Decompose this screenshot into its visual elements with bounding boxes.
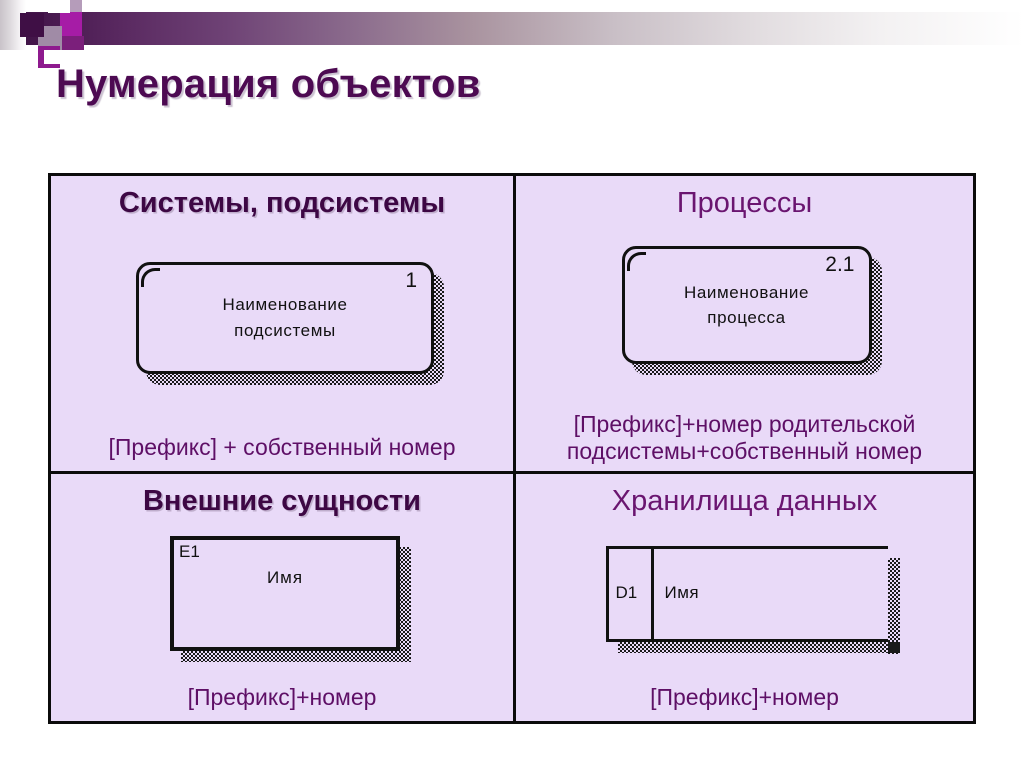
subsystem-shape: 1 Наименование подсистемы bbox=[136, 262, 434, 374]
data-store-name: Имя bbox=[665, 583, 700, 603]
deco-notch-white bbox=[48, 0, 70, 13]
data-store-divider bbox=[651, 549, 654, 639]
cell-external-entities-caption: [Префикс]+номер bbox=[51, 684, 513, 721]
cell-processes-caption-line1: [Префикс]+номер родительской bbox=[516, 411, 973, 438]
cell-data-stores-shape-area: D1 Имя bbox=[516, 518, 973, 684]
cell-data-stores-title: Хранилища данных bbox=[612, 486, 877, 518]
deco-mask-left bbox=[0, 50, 38, 64]
subsystem-box: 1 Наименование подсистемы bbox=[136, 262, 434, 374]
external-entity-id: E1 bbox=[179, 542, 200, 562]
data-store-shape: D1 Имя bbox=[606, 546, 888, 642]
external-entity-shape: E1 Имя bbox=[170, 536, 400, 651]
deco-square-dark bbox=[20, 13, 44, 37]
cell-systems: Системы, подсистемы 1 Наименование подси… bbox=[51, 176, 516, 474]
data-store-id: D1 bbox=[616, 583, 638, 603]
subsystem-name-line1: Наименование bbox=[222, 292, 347, 318]
cell-external-entities-shape-area: E1 Имя bbox=[51, 518, 513, 684]
cell-processes-shape-area: 2.1 Наименование процесса bbox=[516, 220, 973, 411]
deco-square-magenta-top bbox=[60, 12, 82, 36]
deco-square-violet-mid bbox=[60, 36, 84, 50]
header-decoration bbox=[0, 0, 1024, 62]
cell-processes-caption: [Префикс]+номер родительской подсистемы+… bbox=[516, 411, 973, 471]
cell-processes-title: Процессы bbox=[677, 188, 812, 220]
process-name-line1: Наименование bbox=[684, 280, 809, 306]
cell-data-stores-caption: [Префикс]+номер bbox=[516, 684, 973, 721]
notation-matrix: Системы, подсистемы 1 Наименование подси… bbox=[48, 173, 976, 724]
subsystem-name-line2: подсистемы bbox=[222, 318, 347, 344]
page-title: Нумерация объектов bbox=[56, 62, 480, 107]
data-store-shadow-right bbox=[888, 558, 900, 654]
cell-systems-caption: [Префикс] + собственный номер bbox=[51, 434, 513, 471]
cell-processes-caption-line2: подсистемы+собственный номер bbox=[516, 438, 973, 465]
cell-external-entities-title: Внешние сущности bbox=[143, 486, 421, 518]
process-box: 2.1 Наименование процесса bbox=[622, 246, 872, 364]
external-entity-name: Имя bbox=[174, 568, 396, 588]
process-name-line2: процесса bbox=[684, 305, 809, 331]
data-store-shadow-bottom bbox=[618, 642, 900, 653]
cell-data-stores: Хранилища данных D1 Имя [Префикс]+номер bbox=[516, 474, 973, 721]
process-number: 2.1 bbox=[825, 253, 854, 277]
subsystem-number: 1 bbox=[405, 269, 417, 293]
process-shape: 2.1 Наименование процесса bbox=[622, 246, 872, 364]
subsystem-name: Наименование подсистемы bbox=[222, 292, 347, 343]
process-name: Наименование процесса bbox=[684, 280, 809, 331]
external-entity-box: E1 Имя bbox=[170, 536, 400, 651]
gradient-band bbox=[0, 12, 1024, 45]
cell-systems-shape-area: 1 Наименование подсистемы bbox=[51, 220, 513, 434]
cell-external-entities: Внешние сущности E1 Имя [Префикс]+номер bbox=[51, 474, 516, 721]
cell-systems-title: Системы, подсистемы bbox=[119, 188, 445, 220]
data-store-box: D1 Имя bbox=[606, 546, 888, 642]
cell-processes: Процессы 2.1 Наименование процесса [Преф… bbox=[516, 176, 973, 474]
